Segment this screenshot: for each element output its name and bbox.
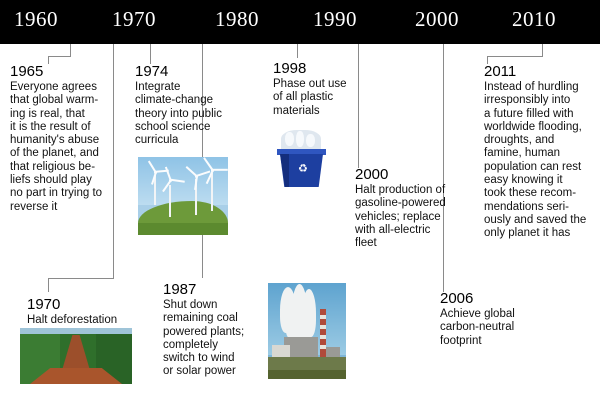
decade-label-1990: 1990 bbox=[313, 7, 357, 32]
entry-2011: 2011 Instead of hurdling irresponsibly i… bbox=[484, 63, 594, 241]
entry-1965-body: Everyone agrees that global warm- ing is… bbox=[10, 81, 122, 214]
decade-label-2000: 2000 bbox=[415, 7, 459, 32]
timeline-infographic: 1960 1970 1980 1990 2000 2010 1965 Every… bbox=[0, 0, 600, 400]
entry-1970: 1970 Halt deforestation bbox=[27, 296, 157, 327]
entry-1998-year: 1998 bbox=[273, 60, 373, 77]
decade-label-1970: 1970 bbox=[112, 7, 156, 32]
decade-label-2010: 2010 bbox=[512, 7, 556, 32]
connector-2011-drop bbox=[542, 44, 543, 56]
wind-farm-foreground bbox=[138, 223, 228, 235]
connector-1998-drop bbox=[297, 44, 298, 58]
entry-1974: 1974 Integrate climate-change theory int… bbox=[135, 63, 247, 147]
entry-1965-year: 1965 bbox=[10, 63, 122, 80]
decade-band: 1960 1970 1980 1990 2000 2010 bbox=[0, 0, 600, 44]
recycle-symbol-icon: ♻ bbox=[298, 164, 308, 175]
connector-1970-elbow bbox=[48, 278, 114, 279]
power-plant-foreground bbox=[268, 370, 346, 379]
wind-turbine-icon-4 bbox=[200, 169, 224, 211]
entry-2000-year: 2000 bbox=[355, 166, 461, 183]
entry-1987-year: 1987 bbox=[163, 281, 267, 298]
entry-1998-body: Phase out use of all plastic materials bbox=[273, 78, 373, 118]
decade-label-1960: 1960 bbox=[14, 7, 58, 32]
connector-1965-drop bbox=[70, 44, 71, 56]
decade-label-1980: 1980 bbox=[215, 7, 259, 32]
connector-2011-elbow bbox=[487, 56, 543, 57]
entry-2011-year: 2011 bbox=[484, 63, 594, 80]
entry-1970-year: 1970 bbox=[27, 296, 157, 313]
bin-shadow-side bbox=[280, 154, 289, 187]
coal-power-plant-photo bbox=[268, 283, 346, 379]
wind-turbine-icon-2 bbox=[158, 179, 182, 217]
entry-1970-body: Halt deforestation bbox=[27, 314, 157, 327]
entry-2011-body: Instead of hurdling irresponsibly into a… bbox=[484, 81, 594, 241]
entry-1974-body: Integrate climate-change theory into pub… bbox=[135, 81, 247, 147]
wind-farm-photo bbox=[138, 157, 228, 235]
entry-2000: 2000 Halt production of gasoline-powered… bbox=[355, 166, 461, 250]
deforestation-photo bbox=[20, 328, 132, 384]
recycling-bin-photo: ♻ bbox=[272, 128, 332, 196]
entry-2006-year: 2006 bbox=[440, 290, 544, 307]
entry-1974-year: 1974 bbox=[135, 63, 247, 80]
entry-2006: 2006 Achieve global carbon-neutral footp… bbox=[440, 290, 544, 348]
entry-2006-body: Achieve global carbon-neutral footprint bbox=[440, 308, 544, 348]
entry-1998: 1998 Phase out use of all plastic materi… bbox=[273, 60, 373, 118]
entry-1987-body: Shut down remaining coal powered plants;… bbox=[163, 299, 267, 379]
connector-1974-drop bbox=[150, 44, 151, 64]
entry-1987: 1987 Shut down remaining coal powered pl… bbox=[163, 281, 267, 379]
entry-2000-body: Halt production of gasoline-powered vehi… bbox=[355, 184, 461, 250]
entry-1965: 1965 Everyone agrees that global warm- i… bbox=[10, 63, 122, 214]
connector-1965-elbow bbox=[48, 56, 71, 57]
connector-1970-stub bbox=[48, 278, 49, 292]
